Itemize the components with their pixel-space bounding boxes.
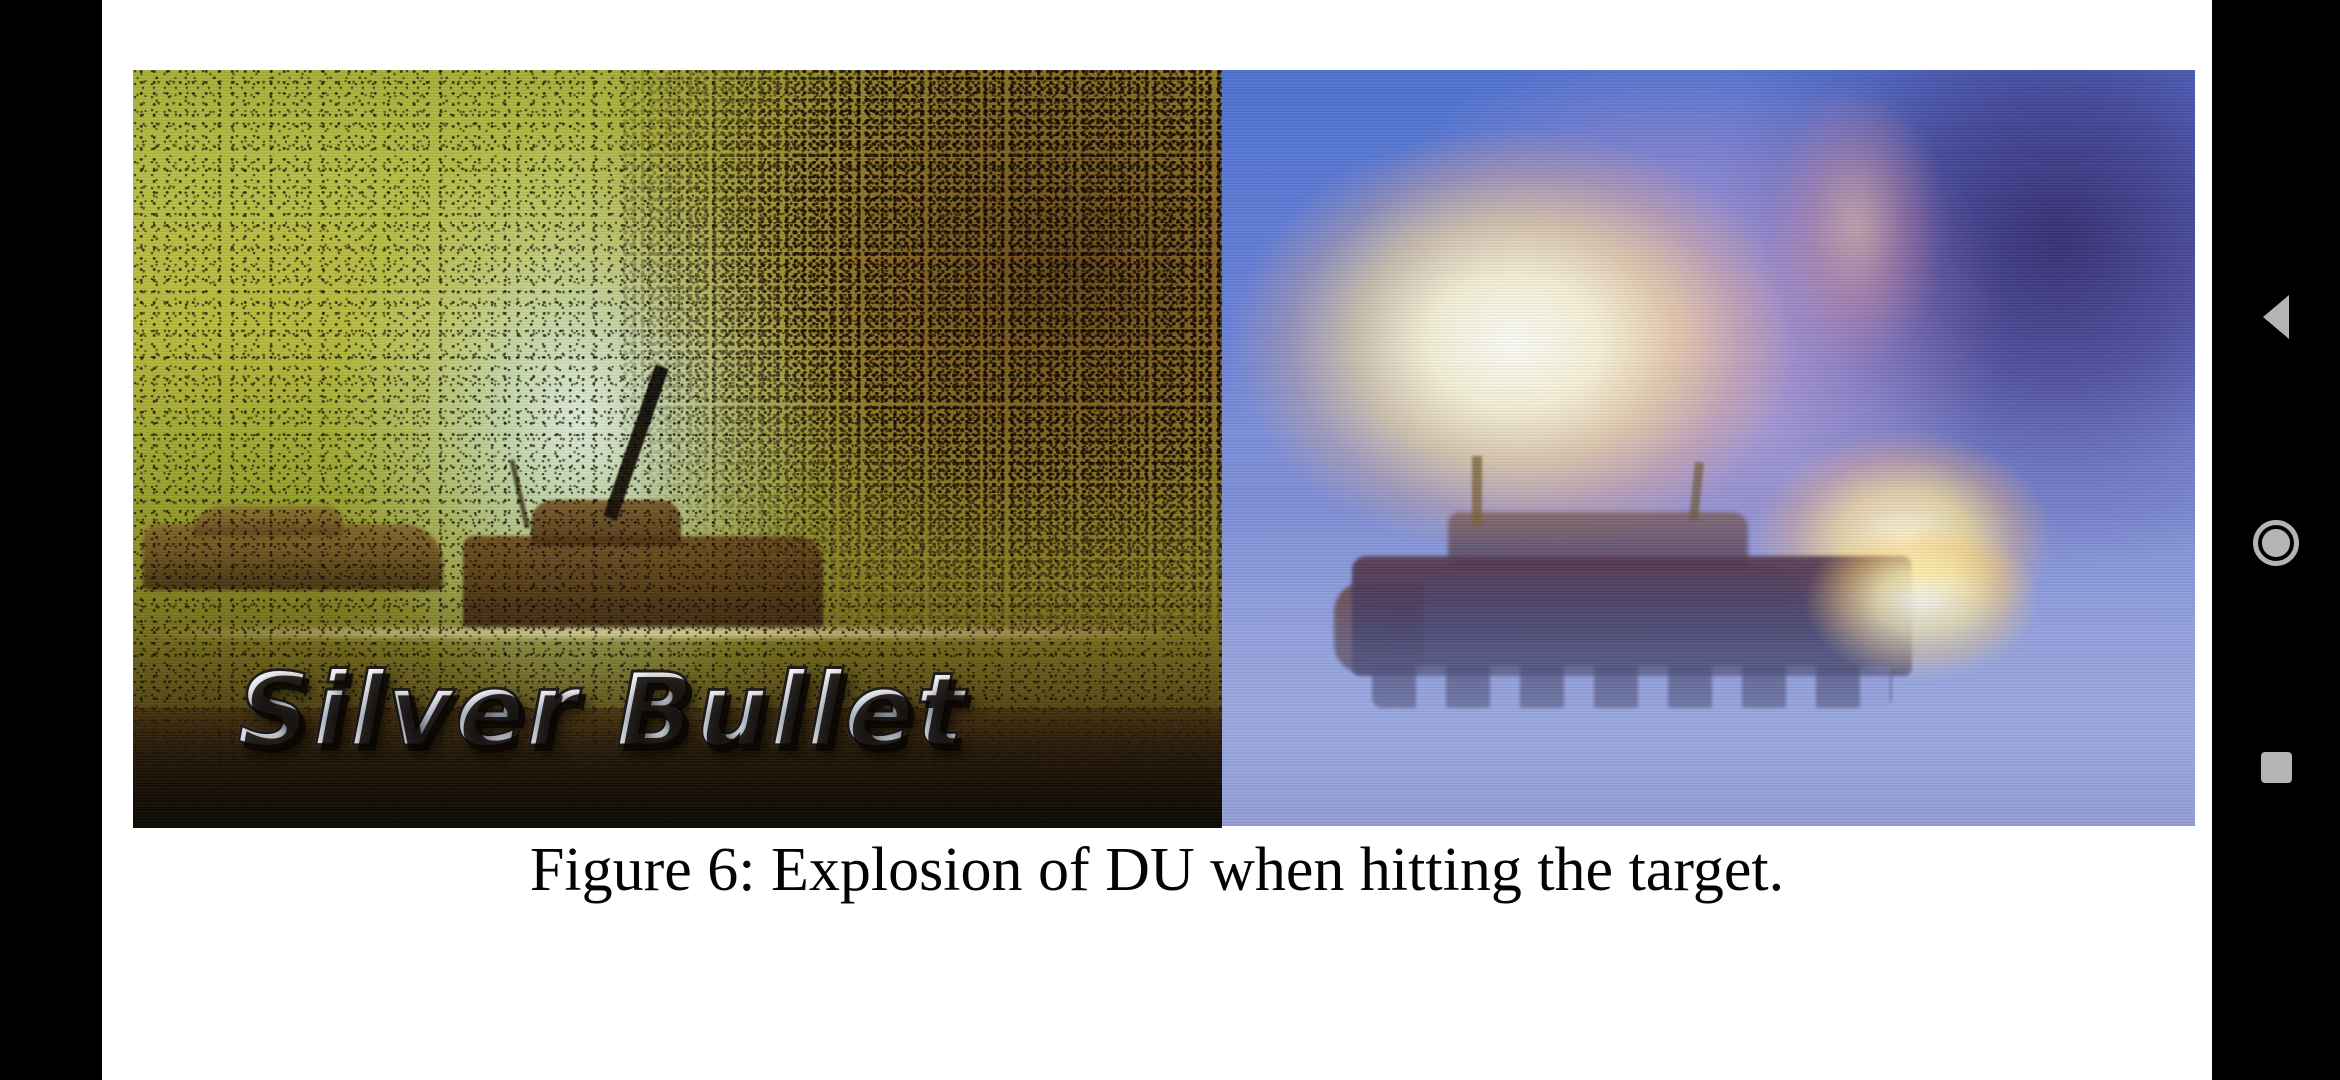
figure-image-pair: Silver Bullet	[133, 70, 2195, 828]
ground-highlight	[133, 628, 1222, 638]
back-button[interactable]	[2212, 253, 2340, 381]
figure-block: Silver Bullet	[133, 70, 2195, 828]
tank-primary-hull	[463, 536, 823, 628]
document-page[interactable]: Silver Bullet Figure 6: Explosion o	[102, 0, 2212, 1080]
tank-secondary-turret	[193, 506, 343, 536]
triangle-left-icon	[2263, 295, 2289, 339]
android-navigation-bar	[2212, 0, 2340, 1080]
screen: Silver Bullet Figure 6: Explosion o	[0, 0, 2340, 1080]
smoke-plume	[1742, 70, 1972, 390]
figure-image-left: Silver Bullet	[133, 70, 1222, 828]
figure-caption: Figure 6: Explosion of DU when hitting t…	[102, 838, 2212, 903]
square-icon	[2261, 752, 2292, 783]
silver-bullet-overlay-title: Silver Bullet	[237, 651, 966, 770]
recents-button[interactable]	[2212, 703, 2340, 831]
vehicle-mast-front	[1472, 456, 1482, 526]
figure-image-right	[1222, 70, 2195, 826]
home-button[interactable]	[2212, 479, 2340, 607]
tank-primary-barrel	[603, 364, 668, 520]
tank-primary-antenna	[509, 459, 530, 528]
letterbox-left	[0, 0, 102, 1080]
circle-icon	[2253, 520, 2299, 566]
desert-haze	[1222, 569, 2195, 826]
